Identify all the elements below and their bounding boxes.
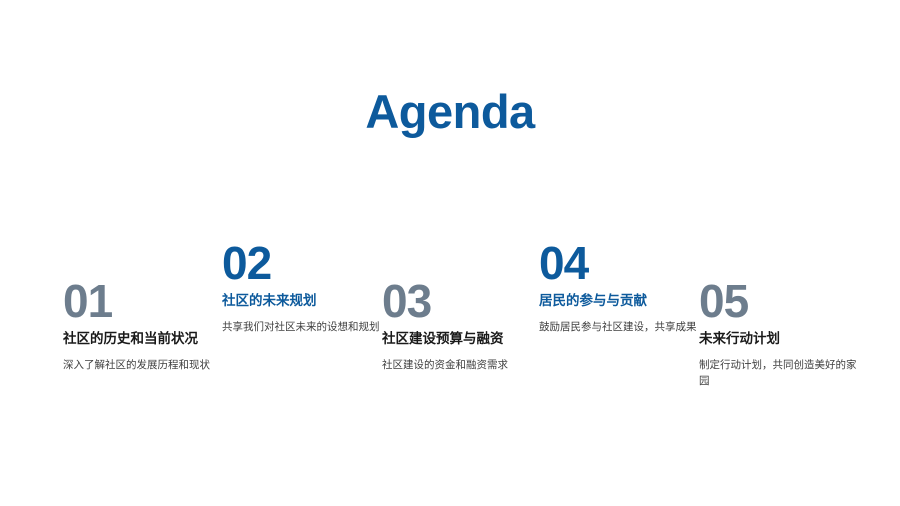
agenda-item-number: 04 xyxy=(539,240,699,286)
agenda-item-number: 01 xyxy=(63,278,223,324)
agenda-item-description: 社区建设的资金和融资需求 xyxy=(382,357,542,373)
agenda-item-description: 鼓励居民参与社区建设，共享成果 xyxy=(539,319,699,335)
page-title: Agenda xyxy=(0,86,900,138)
agenda-item-title: 社区建设预算与融资 xyxy=(382,330,542,348)
agenda-item-04[interactable]: 04 居民的参与与贡献 鼓励居民参与社区建设，共享成果 xyxy=(539,240,699,335)
agenda-item-number: 03 xyxy=(382,278,542,324)
agenda-item-number: 02 xyxy=(222,240,382,286)
agenda-item-title: 未来行动计划 xyxy=(699,330,859,348)
agenda-item-title: 居民的参与与贡献 xyxy=(539,292,699,310)
agenda-slide: Agenda 01 社区的历史和当前状况 深入了解社区的发展历程和现状 02 社… xyxy=(0,0,900,506)
agenda-item-number: 05 xyxy=(699,278,859,324)
agenda-item-title: 社区的历史和当前状况 xyxy=(63,330,223,348)
agenda-item-description: 深入了解社区的发展历程和现状 xyxy=(63,357,223,373)
agenda-item-05[interactable]: 05 未来行动计划 制定行动计划，共同创造美好的家园 xyxy=(699,278,859,390)
agenda-item-03[interactable]: 03 社区建设预算与融资 社区建设的资金和融资需求 xyxy=(382,278,542,373)
agenda-item-title: 社区的未来规划 xyxy=(222,292,382,310)
agenda-item-description: 共享我们对社区未来的设想和规划 xyxy=(222,319,382,335)
agenda-item-01[interactable]: 01 社区的历史和当前状况 深入了解社区的发展历程和现状 xyxy=(63,278,223,373)
agenda-item-description: 制定行动计划，共同创造美好的家园 xyxy=(699,357,859,390)
agenda-item-list: 01 社区的历史和当前状况 深入了解社区的发展历程和现状 02 社区的未来规划 … xyxy=(0,240,900,470)
agenda-item-02[interactable]: 02 社区的未来规划 共享我们对社区未来的设想和规划 xyxy=(222,240,382,335)
